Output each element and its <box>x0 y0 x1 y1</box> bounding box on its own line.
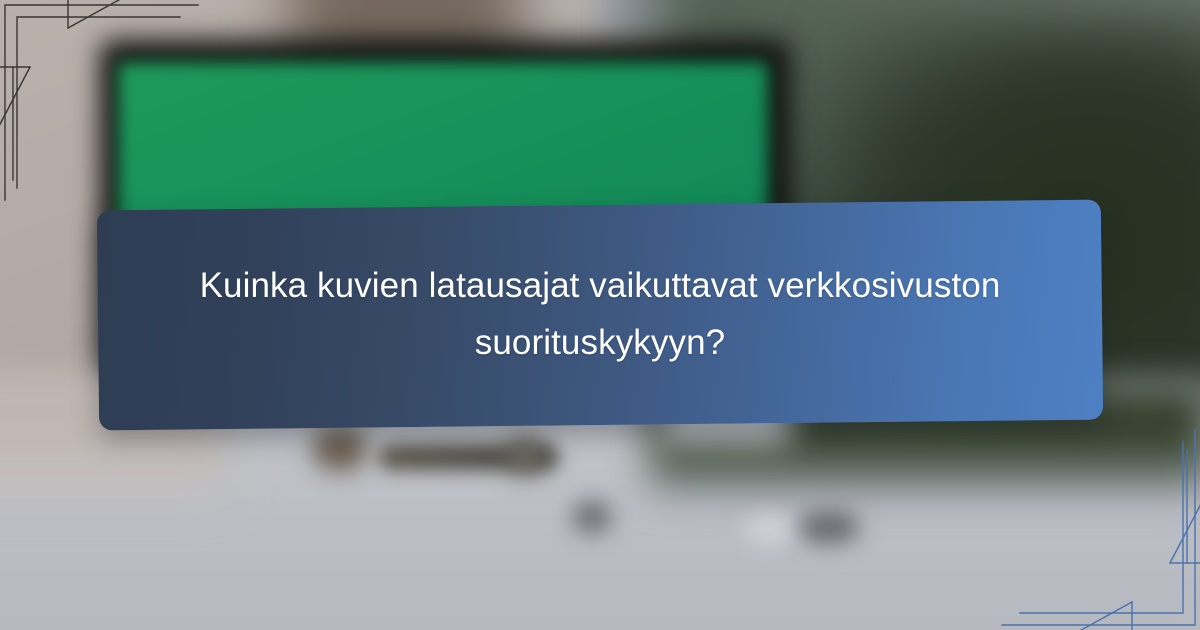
hero-canvas: Kuinka kuvien latausajat vaikuttavat ver… <box>0 0 1200 630</box>
desk-object-small-b <box>572 500 612 534</box>
desk-object-small-d <box>800 510 858 544</box>
desk-pen-tip <box>312 424 368 472</box>
page-title: Kuinka kuvien latausajat vaikuttavat ver… <box>98 258 1102 371</box>
desk-object-small-c <box>742 515 798 545</box>
title-card: Kuinka kuvien latausajat vaikuttavat ver… <box>97 200 1103 431</box>
desk-object-small-a <box>508 436 542 476</box>
